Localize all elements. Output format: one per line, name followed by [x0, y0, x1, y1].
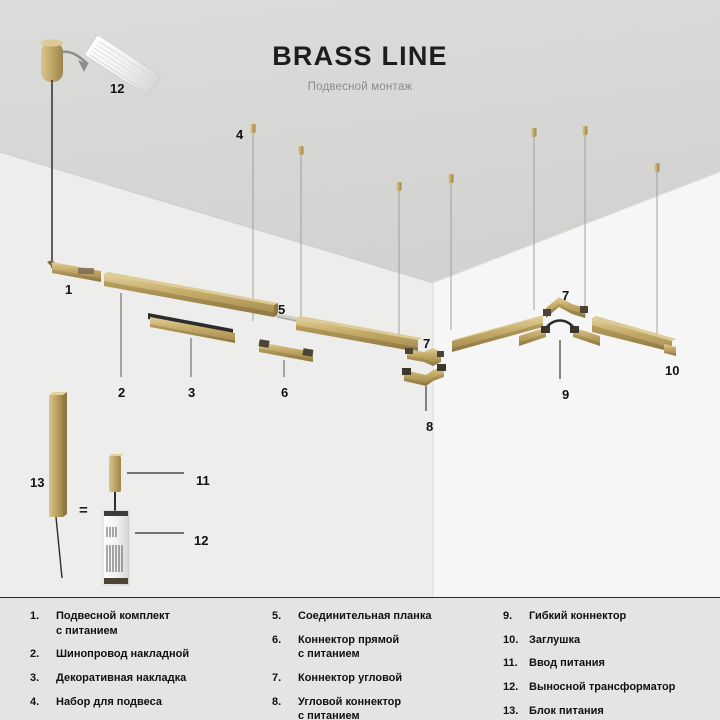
- legend-item-number: 6.: [272, 633, 298, 662]
- diagram-scene: BRASS LINE Подвесной монтаж 124123567789…: [0, 0, 720, 597]
- legend-item-label: Коннектор угловой: [298, 671, 402, 686]
- legend-column-2: 5.Соединительная планка6.Коннектор прямо…: [272, 609, 497, 720]
- legend-item: 10.Заглушка: [503, 633, 718, 648]
- callout-number-7: 7: [423, 337, 430, 350]
- callout-number-3: 3: [188, 386, 195, 399]
- legend-item-label: Заглушка: [529, 633, 580, 648]
- legend-item-label: Выносной трансформатор: [529, 680, 675, 695]
- legend-item: 4.Набор для подвеса: [30, 695, 265, 710]
- callout-number-7: 7: [562, 289, 569, 302]
- callout-number-9: 9: [562, 388, 569, 401]
- legend-item: 13.Блок питания: [503, 704, 718, 719]
- equals-sign: =: [79, 503, 88, 518]
- brass-cylinder: [41, 42, 63, 82]
- legend-item-number: 10.: [503, 633, 529, 648]
- legend-column-1: 1.Подвесной комплект с питанием2.Шинопро…: [30, 609, 265, 718]
- legend-item: 5.Соединительная планка: [272, 609, 497, 624]
- legend-item: 2.Шинопровод накладной: [30, 647, 265, 662]
- legend-item-number: 2.: [30, 647, 56, 662]
- callout-number-12: 12: [194, 534, 208, 547]
- callout-number-2: 2: [118, 386, 125, 399]
- callout-number-6: 6: [281, 386, 288, 399]
- legend-item-number: 1.: [30, 609, 56, 638]
- legend-item-number: 13.: [503, 704, 529, 719]
- legend-item-label: Угловой коннектор с питанием: [298, 695, 401, 720]
- legend-item-label: Набор для подвеса: [56, 695, 162, 710]
- legend-item-number: 5.: [272, 609, 298, 624]
- legend-item-number: 3.: [30, 671, 56, 686]
- legend-item-label: Блок питания: [529, 704, 604, 719]
- legend-item: 6.Коннектор прямой с питанием: [272, 633, 497, 662]
- legend-item-label: Ввод питания: [529, 656, 605, 671]
- legend-item-number: 8.: [272, 695, 298, 720]
- callout-number-5: 5: [278, 303, 285, 316]
- callout-number-8: 8: [426, 420, 433, 433]
- callout-number-4: 4: [236, 128, 243, 141]
- legend-item-number: 7.: [272, 671, 298, 686]
- callout-number-10: 10: [665, 364, 679, 377]
- legend-item-label: Соединительная планка: [298, 609, 431, 624]
- legend-item-number: 9.: [503, 609, 529, 624]
- legend-item: 9.Гибкий коннектор: [503, 609, 718, 624]
- callout-number-1: 1: [65, 283, 72, 296]
- legend-item-label: Подвесной комплект с питанием: [56, 609, 170, 638]
- legend-item: 3.Декоративная накладка: [30, 671, 265, 686]
- legend-item-number: 12.: [503, 680, 529, 695]
- legend-item-label: Шинопровод накладной: [56, 647, 189, 662]
- scene-illustration: [0, 0, 720, 597]
- legend-item-number: 4.: [30, 695, 56, 710]
- callout-number-13: 13: [30, 476, 44, 489]
- legend-panel: 1.Подвесной комплект с питанием2.Шинопро…: [0, 597, 720, 720]
- callout-number-11: 11: [196, 474, 210, 487]
- legend-item: 7.Коннектор угловой: [272, 671, 497, 686]
- legend-item-label: Коннектор прямой с питанием: [298, 633, 399, 662]
- legend-item-number: 11.: [503, 656, 529, 671]
- legend-item: 1.Подвесной комплект с питанием: [30, 609, 265, 638]
- legend-item-label: Декоративная накладка: [56, 671, 186, 686]
- legend-column-3: 9.Гибкий коннектор10.Заглушка11.Ввод пит…: [503, 609, 718, 720]
- brass-line-diagram-page: BRASS LINE Подвесной монтаж 124123567789…: [0, 0, 720, 720]
- legend-item-label: Гибкий коннектор: [529, 609, 626, 624]
- callout-number-12: 12: [110, 82, 124, 95]
- legend-item: 8.Угловой коннектор с питанием: [272, 695, 497, 720]
- legend-item: 12.Выносной трансформатор: [503, 680, 718, 695]
- legend-item: 11.Ввод питания: [503, 656, 718, 671]
